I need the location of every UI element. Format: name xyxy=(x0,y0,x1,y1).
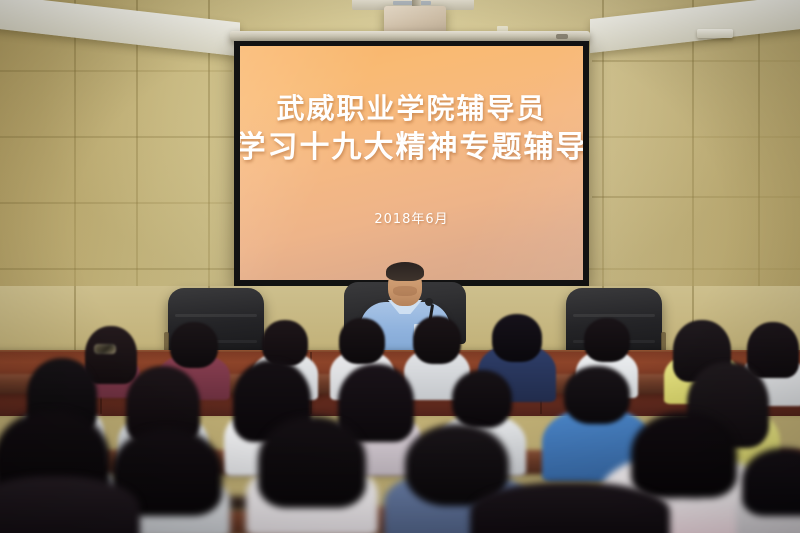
audience-head xyxy=(452,370,512,428)
audience-hair xyxy=(258,416,366,508)
audience-head xyxy=(492,314,542,362)
lecture-hall-photo: 武威职业学院辅导员 学习十九大精神专题辅导 2018年6月 xyxy=(0,0,800,533)
wall-panel-seam xyxy=(0,202,232,204)
wall-panel-seam xyxy=(592,196,800,198)
audience-head xyxy=(413,316,461,364)
foreground-shape xyxy=(0,476,140,533)
audience-area: B G ARE•LINE xyxy=(0,300,800,533)
slide-content: 武威职业学院辅导员 学习十九大精神专题辅导 2018年6月 xyxy=(240,46,583,280)
foreground-shape xyxy=(470,482,670,533)
audience-member xyxy=(736,448,800,533)
audience-head xyxy=(584,318,630,362)
audience-head xyxy=(170,322,218,368)
foreground-silhouette xyxy=(470,482,670,533)
projection-screen: 武威职业学院辅导员 学习十九大精神专题辅导 2018年6月 xyxy=(234,41,589,286)
wall-panel-seam xyxy=(0,70,232,72)
slide-title-line-1: 武威职业学院辅导员 xyxy=(276,90,546,128)
audience-hair xyxy=(742,448,800,516)
slide-title-line-2: 学习十九大精神专题辅导 xyxy=(240,128,583,168)
wall-vent-icon xyxy=(697,29,733,38)
foreground-silhouette xyxy=(0,476,140,533)
wall-panel-seam xyxy=(592,60,800,62)
screen-roller-knob-icon[interactable] xyxy=(556,34,568,39)
presenter-hair xyxy=(386,262,424,281)
hair-clip-icon xyxy=(94,344,116,354)
audience-head xyxy=(339,318,385,364)
slide-date: 2018年6月 xyxy=(374,208,448,227)
presenter-face-shadow xyxy=(393,286,417,296)
audience-head xyxy=(564,366,630,424)
audience-member xyxy=(246,416,378,533)
slide-surface: 武威职业学院辅导员 学习十九大精神专题辅导 2018年6月 xyxy=(240,46,583,280)
